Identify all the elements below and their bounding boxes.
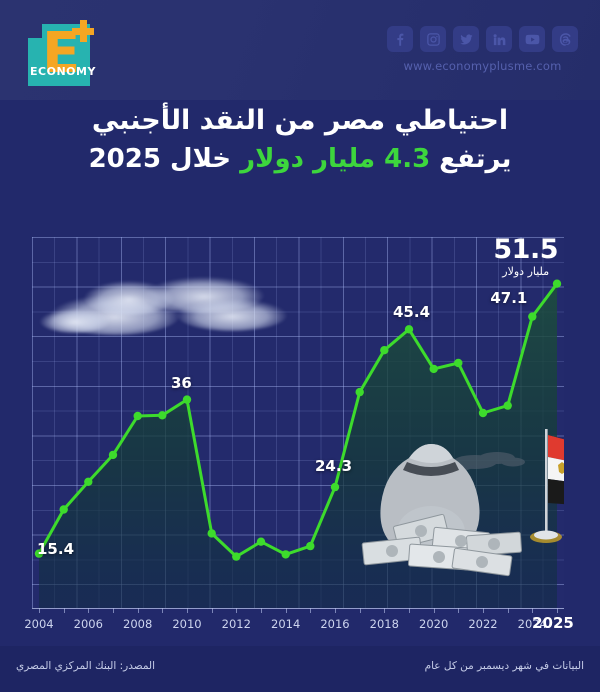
logo-notch [28,24,42,38]
x-tick [261,608,262,613]
chart-point [479,409,487,417]
headline-block: احتياطي مصر من النقد الأجنبي يرتفع 4.3 م… [0,104,600,176]
chart-point [183,395,191,403]
last-value-callout: 51.5 مليار دولار [493,237,558,278]
x-tick [532,608,533,613]
last-value-number: 51.5 [493,237,558,263]
subtitle-prefix: يرتفع [430,144,511,174]
x-tick [483,608,484,613]
x-axis: 2004200620082010201220142016201820202022… [32,608,564,642]
chart-point [158,411,166,419]
chart-point [454,359,462,367]
x-tick [458,608,459,613]
linkedin-icon[interactable] [486,26,512,52]
x-tick [39,608,40,613]
value-label: 45.4 [393,303,430,321]
footer-note: البيانات في شهر ديسمبر من كل عام [425,660,584,672]
x-axis-label: 2022 [468,617,497,631]
site-url[interactable]: www.economyplusme.com [387,59,578,73]
chart-point [109,451,117,459]
plus-icon [72,20,94,42]
chart-point [232,552,240,560]
x-tick [434,608,435,613]
x-axis-label: 2010 [172,617,201,631]
chart-point [405,325,413,333]
value-label: 24.3 [315,457,352,475]
value-label: 15.4 [37,540,74,558]
page-title: احتياطي مصر من النقد الأجنبي [0,104,600,138]
chart-point [60,505,68,513]
line-chart: 51.5 مليار دولار 15.43624.345.447.1 [32,237,564,608]
x-tick [360,608,361,613]
social-links: www.economyplusme.com [387,26,578,73]
footer-bar: البيانات في شهر ديسمبر من كل عام المصدر:… [0,646,600,692]
x-axis-label: 2004 [24,617,53,631]
x-axis-label: 2016 [320,617,349,631]
value-label: 36 [171,374,192,392]
chart-point [553,280,561,288]
x-tick [557,608,558,613]
subtitle-suffix: خلال 2025 [89,144,241,174]
youtube-icon[interactable] [519,26,545,52]
chart-point [306,542,314,550]
social-icon-row [387,26,578,52]
chart-point [84,478,92,486]
x-tick [162,608,163,613]
x-tick [138,608,139,613]
x-axis-label: 2025 [532,614,574,632]
x-tick [409,608,410,613]
chart-point [257,538,265,546]
chart-point [331,483,339,491]
chart-point [504,401,512,409]
threads-icon[interactable] [552,26,578,52]
x-tick [187,608,188,613]
value-label: 47.1 [490,289,527,307]
header-bar: E ECONOMY www.economyplusme.com [0,0,600,100]
instagram-icon[interactable] [420,26,446,52]
facebook-icon[interactable] [387,26,413,52]
x-tick [113,608,114,613]
x-axis-label: 2020 [419,617,448,631]
chart-point [380,346,388,354]
x-tick [335,608,336,613]
chart-point [356,388,364,396]
x-axis-label: 2014 [271,617,300,631]
x-tick [384,608,385,613]
x-tick [88,608,89,613]
x-tick [64,608,65,613]
x-axis-line [32,608,564,609]
chart-point [134,412,142,420]
footer-source: المصدر: البنك المركزي المصري [16,660,155,672]
chart-point [282,550,290,558]
x-tick [286,608,287,613]
x-axis-label: 2008 [123,617,152,631]
chart-point [208,529,216,537]
page-subtitle: يرتفع 4.3 مليار دولار خلال 2025 [0,142,600,176]
logo-wordmark: ECONOMY [30,65,96,78]
x-axis-label: 2018 [370,617,399,631]
chart-point [528,312,536,320]
subtitle-highlight: 4.3 مليار دولار [240,144,430,174]
x-tick [212,608,213,613]
x-axis-label: 2012 [222,617,251,631]
last-value-unit: مليار دولار [493,265,558,278]
x-tick [508,608,509,613]
egypt-flag-icon [512,423,564,553]
x-tick [236,608,237,613]
x-tick [310,608,311,613]
chart-point [430,365,438,373]
twitter-icon[interactable] [453,26,479,52]
x-axis-label: 2006 [74,617,103,631]
brand-logo[interactable]: E ECONOMY [20,16,96,88]
